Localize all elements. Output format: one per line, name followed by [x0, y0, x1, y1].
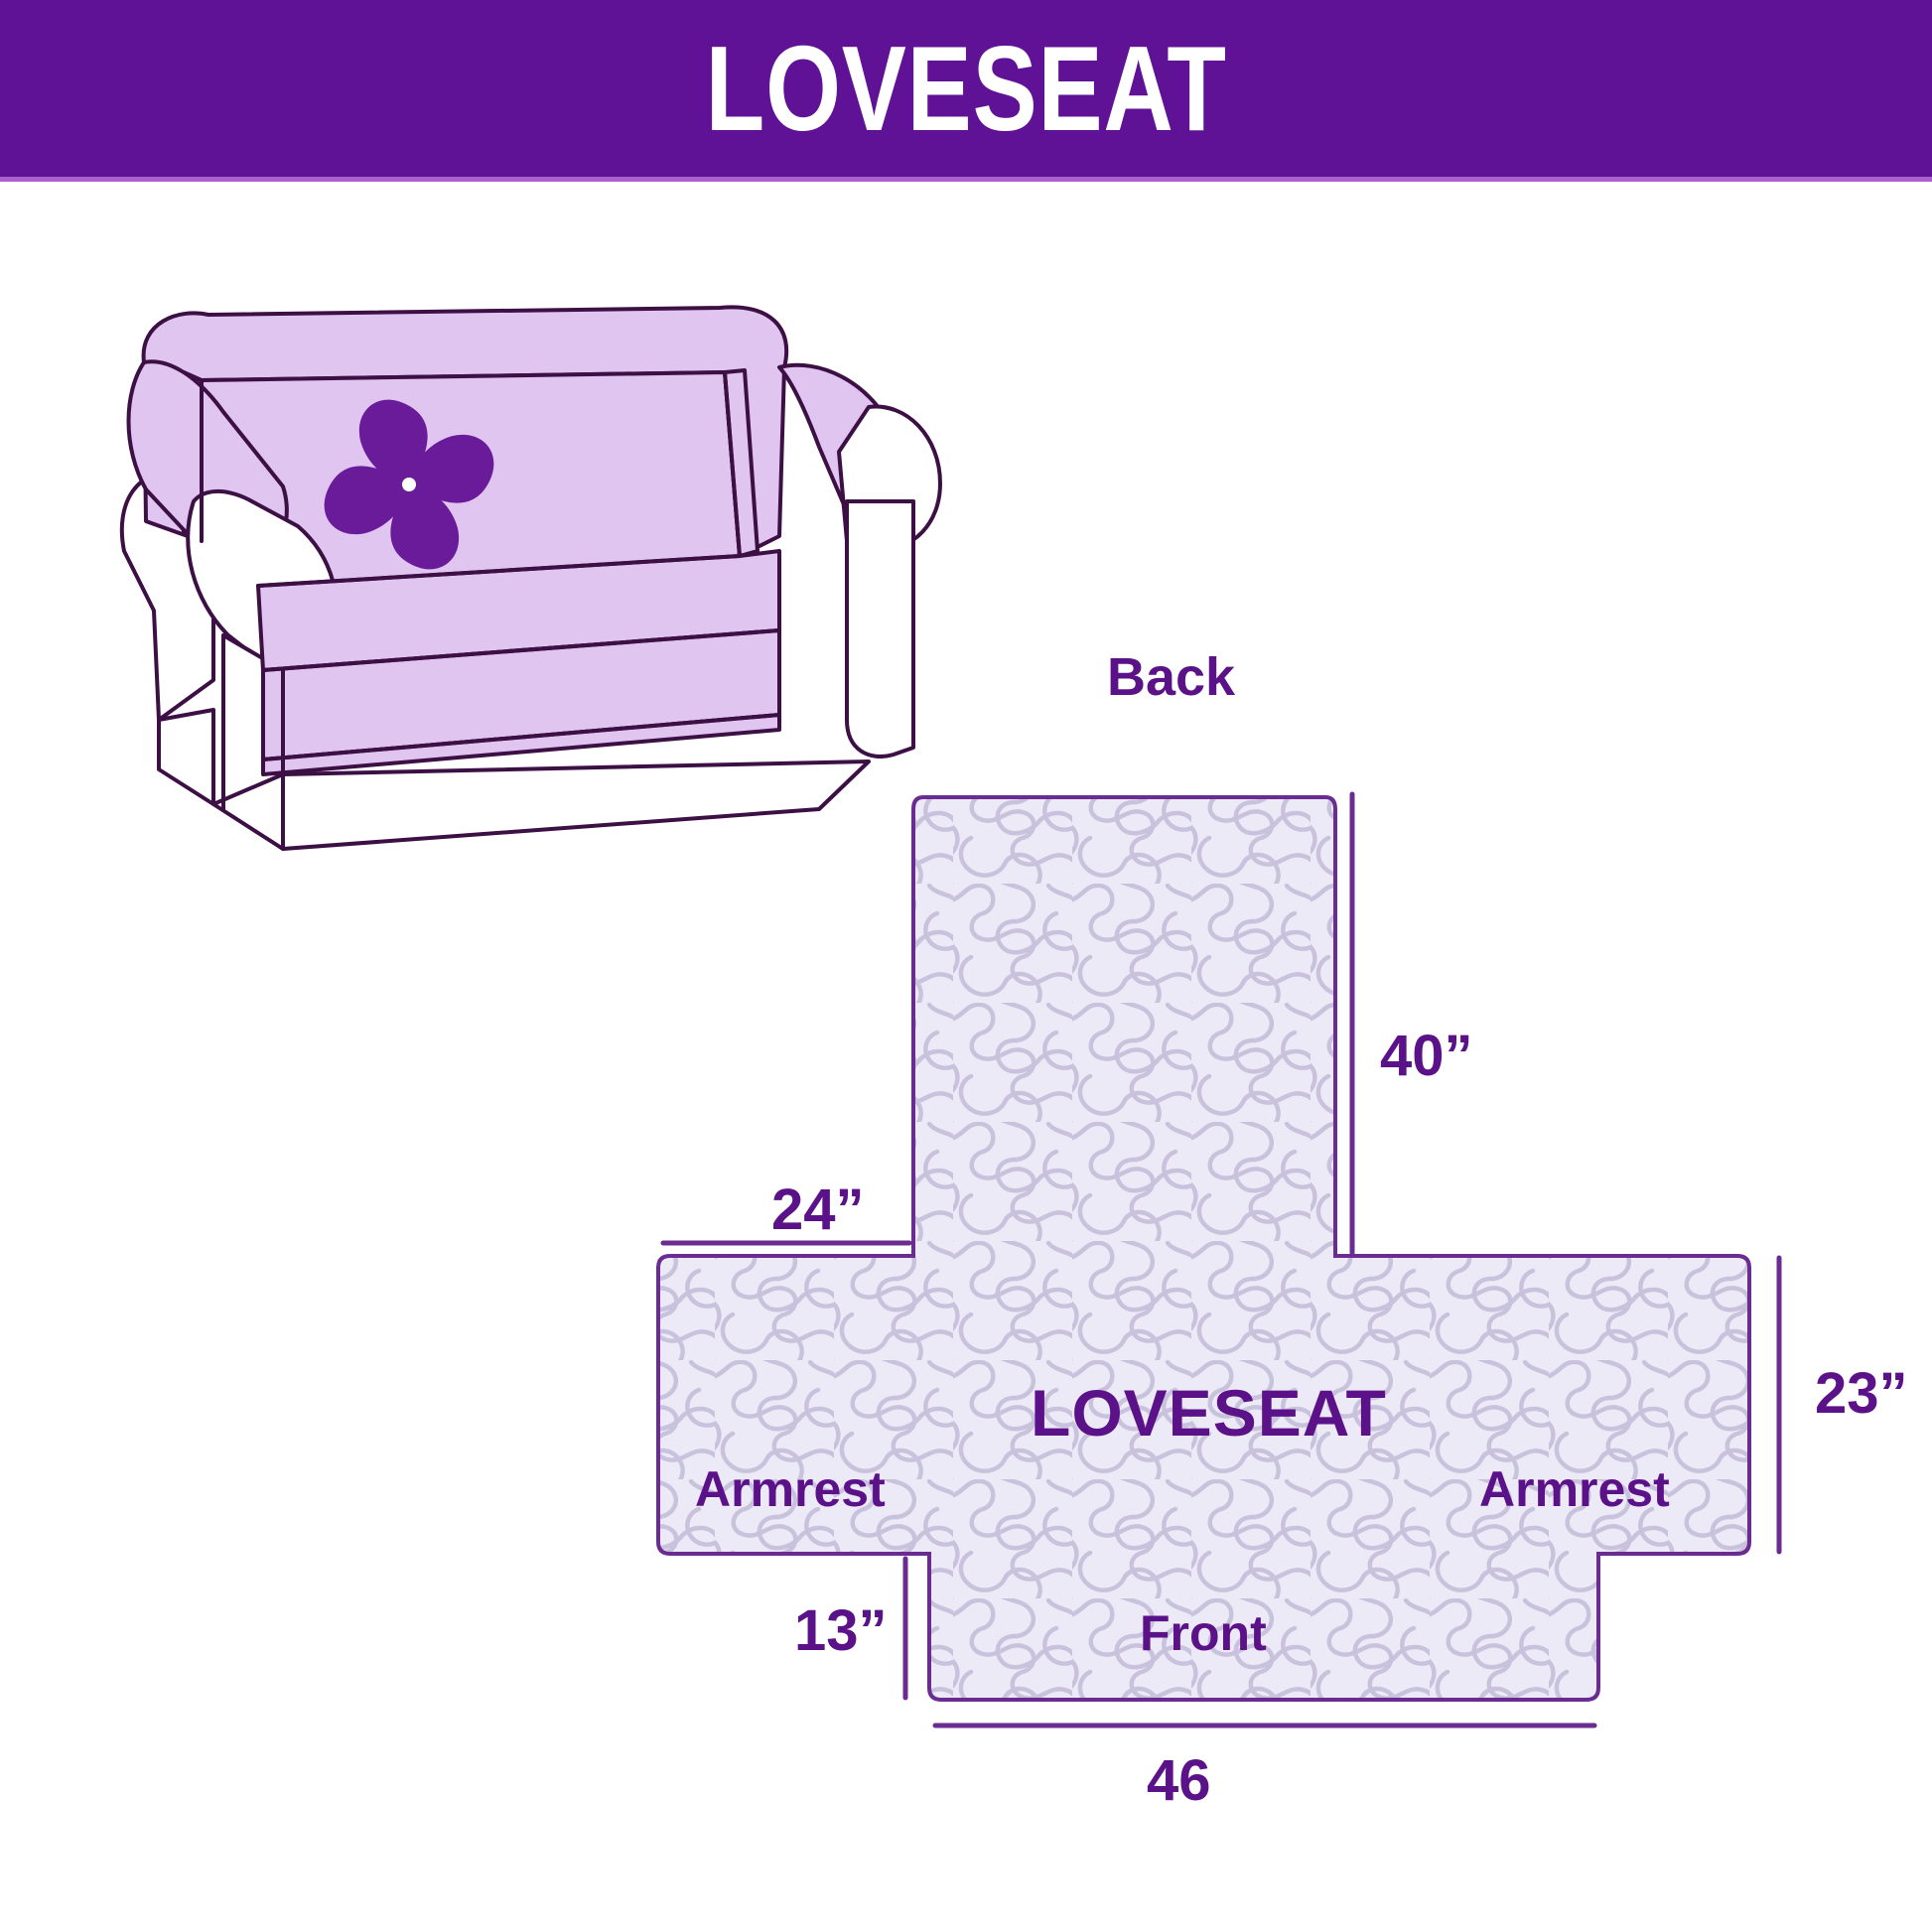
- dimension-label-back-height: 40”: [1380, 1028, 1473, 1085]
- dimension-label-front-offset: 13”: [794, 1602, 888, 1660]
- label-armrest-left: Armrest: [695, 1464, 886, 1514]
- loveseat-cover-outline: [658, 797, 1749, 1700]
- label-loveseat: LOVESEAT: [1031, 1380, 1387, 1446]
- sofa-base-left: [159, 710, 213, 804]
- page-title: LOVESEAT: [705, 28, 1226, 149]
- pinwheel-center-dot: [402, 478, 416, 491]
- page-root: LOVESEAT: [0, 0, 1932, 1932]
- dimension-label-armrest-height: 23”: [1815, 1365, 1908, 1423]
- dimension-label-total-width: 46: [1147, 1752, 1211, 1810]
- label-armrest-right: Armrest: [1479, 1464, 1670, 1514]
- sofa-right-arm-body: [847, 501, 913, 757]
- label-front: Front: [1140, 1608, 1267, 1658]
- dimension-label-back-offset: 24”: [771, 1181, 865, 1239]
- header-underline: [0, 177, 1932, 182]
- loveseat-dimension-diagram: [596, 764, 1932, 1857]
- dimension-diagram-svg: [596, 764, 1932, 1857]
- page-header: LOVESEAT: [0, 0, 1932, 177]
- label-back: Back: [1107, 650, 1235, 704]
